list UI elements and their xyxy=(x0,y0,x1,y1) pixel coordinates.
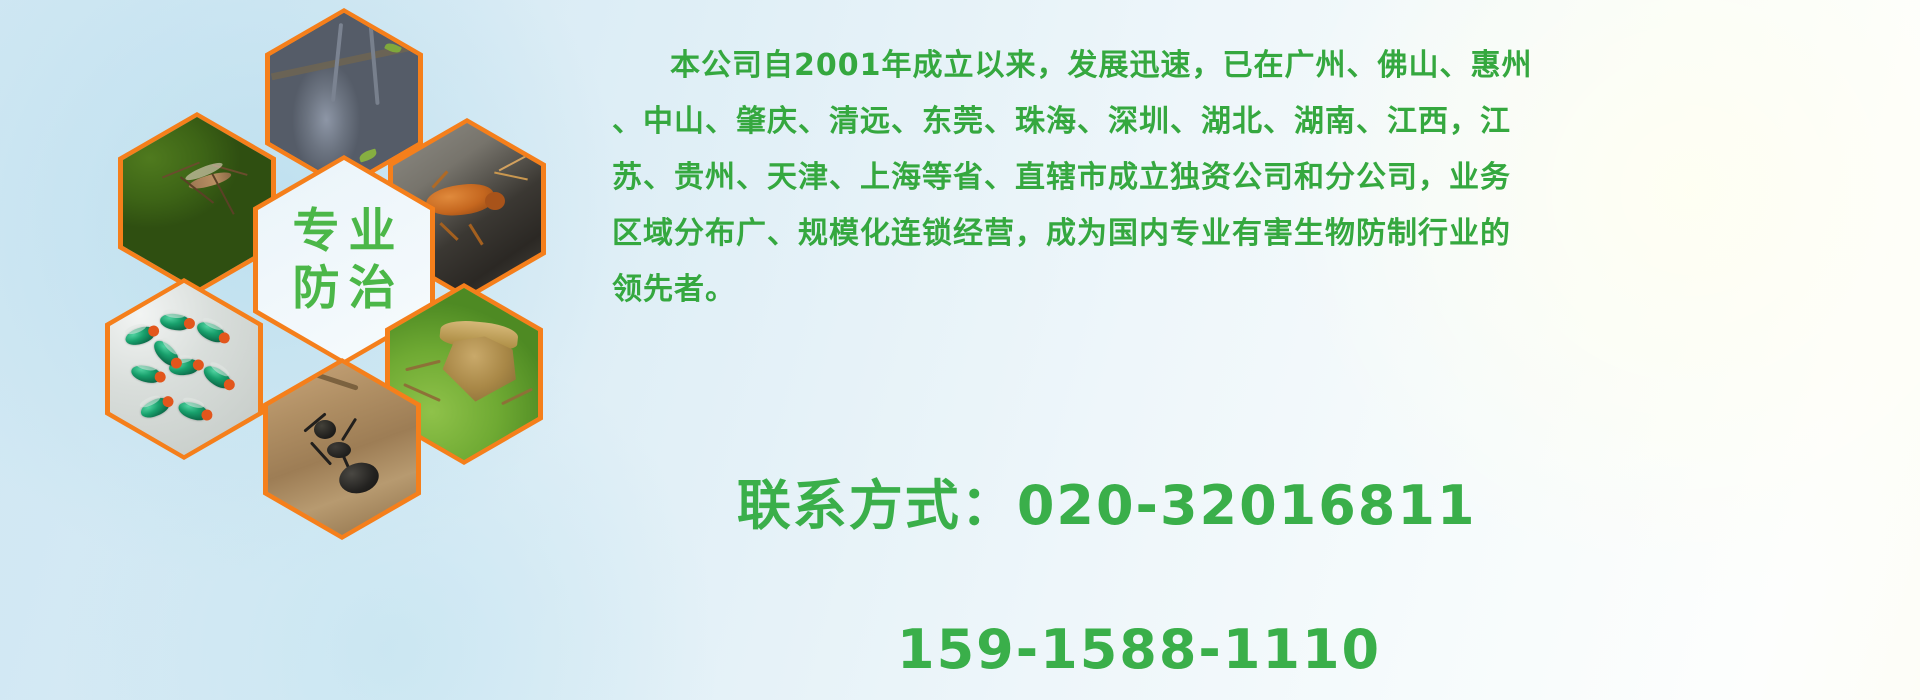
slogan-line-2: 防治 xyxy=(284,260,405,317)
intro-paragraph: 本公司自2001年成立以来，发展迅速，已在广州、佛山、惠州 、中山、肇庆、清远、… xyxy=(612,38,1882,318)
fly-photo xyxy=(110,283,258,455)
hex-cell-fly[interactable] xyxy=(105,278,263,460)
promo-banner: 专业 防治 xyxy=(0,0,1920,700)
intro-line-4: 区域分布广、规模化连锁经营，成为国内专业有害生物防制行业的 xyxy=(612,206,1882,262)
intro-line-1: 本公司自2001年成立以来，发展迅速，已在广州、佛山、惠州 xyxy=(612,38,1882,94)
hex-photo-frame-mosquito xyxy=(123,117,271,289)
intro-line-2: 、中山、肇庆、清远、东莞、珠海、深圳、湖北、湖南、江西，江 xyxy=(612,94,1882,150)
intro-line-5: 领先者。 xyxy=(612,262,1882,318)
intro-line-3: 苏、贵州、天津、上海等省、直辖市成立独资公司和分公司，业务 xyxy=(612,150,1882,206)
hex-photo-frame-ant xyxy=(268,363,416,535)
contact-phone-primary[interactable]: 020-32016811 xyxy=(1017,474,1477,537)
contact-primary-line[interactable]: 联系方式：020-32016811 xyxy=(612,398,1882,614)
intro-copy: 本公司自2001年成立以来，发展迅速，已在广州、佛山、惠州 、中山、肇庆、清远、… xyxy=(612,38,1882,318)
slogan-line-1: 专业 xyxy=(284,203,405,260)
contact-label: 联系方式： xyxy=(737,474,1017,537)
mosquito-photo xyxy=(123,117,271,289)
hex-cell-mosquito[interactable] xyxy=(118,112,276,294)
hexagon-collage: 专业 防治 xyxy=(0,0,600,560)
contact-block: 联系方式：020-32016811 159-1588-1110 xyxy=(612,398,1882,686)
contact-phone-secondary[interactable]: 159-1588-1110 xyxy=(612,614,1882,686)
hex-photo-frame-fly xyxy=(110,283,258,455)
ant-photo xyxy=(268,363,416,535)
